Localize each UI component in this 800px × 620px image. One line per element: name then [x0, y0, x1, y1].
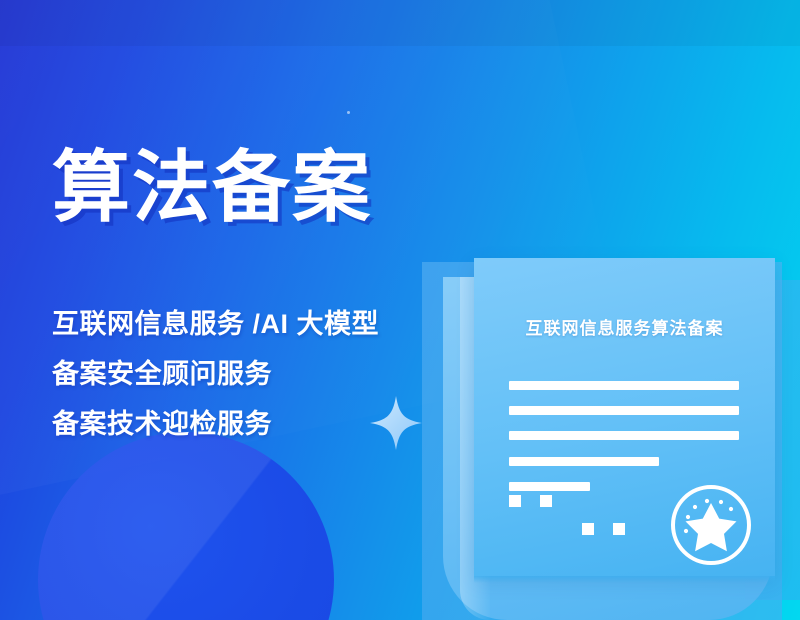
document-square [613, 523, 625, 535]
document-front-card: 互联网信息服务算法备案 [474, 258, 775, 576]
document-square [509, 495, 521, 507]
subtitle-line-3: 备案技术迎检服务 [52, 399, 379, 449]
document-square [582, 523, 594, 535]
background-circle-gloss [38, 432, 334, 620]
headline-block: 算法备案 [52, 148, 372, 226]
background-circle-shape [38, 432, 334, 620]
document-stack: 互联网信息服务算法备案 [415, 250, 800, 620]
document-line [509, 457, 659, 466]
document-card-title: 互联网信息服务算法备案 [474, 314, 775, 339]
document-square [540, 495, 552, 507]
background-top-band [0, 0, 800, 46]
star-seal-icon [669, 483, 753, 567]
document-line [509, 381, 739, 390]
small-dot-icon [347, 111, 350, 114]
document-line [509, 431, 739, 440]
algorithm-filing-banner: 互联网信息服务算法备案 [0, 0, 800, 620]
document-line [509, 482, 590, 491]
document-line [509, 406, 739, 415]
subtitle-line-1: 互联网信息服务 /AI 大模型 [52, 299, 379, 349]
subtitle-list: 互联网信息服务 /AI 大模型 备案安全顾问服务 备案技术迎检服务 [52, 299, 379, 449]
subtitle-line-2: 备案安全顾问服务 [52, 349, 379, 399]
page-title: 算法备案 [52, 148, 372, 226]
document-card-bottom-edge [474, 576, 775, 583]
